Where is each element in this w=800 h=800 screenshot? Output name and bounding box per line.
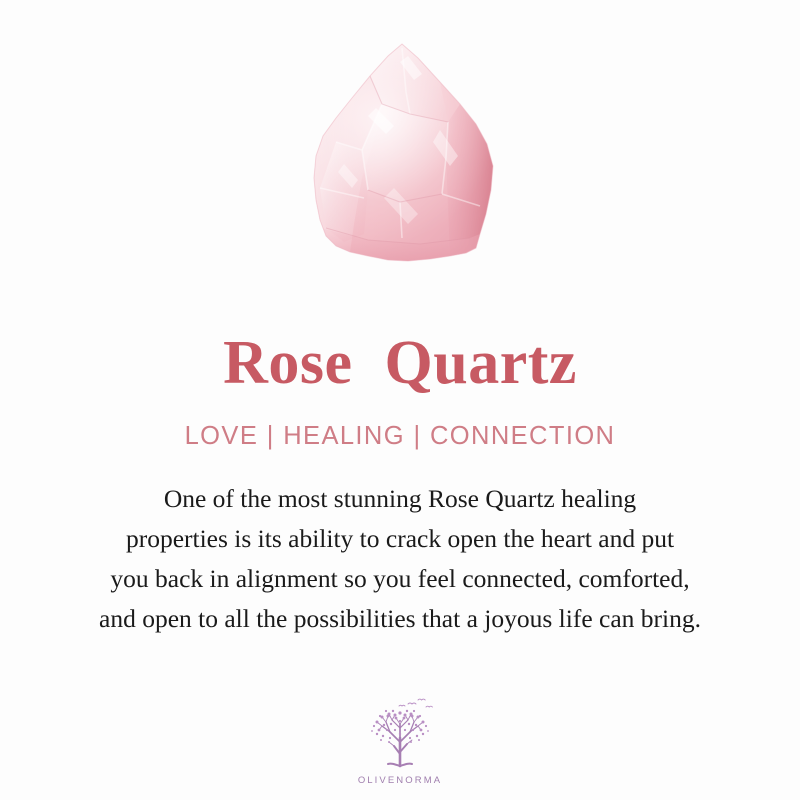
description-line: you back in alignment so you feel connec… bbox=[30, 559, 770, 599]
tree-birds bbox=[399, 699, 432, 707]
brand-name: OLIVENORMA bbox=[358, 775, 442, 786]
product-card: Rose Quartz LOVE | HEALING | CONNECTION … bbox=[0, 0, 800, 800]
crystal-image-container bbox=[0, 0, 800, 320]
product-description: One of the most stunning Rose Quartz hea… bbox=[30, 479, 770, 639]
description-line: and open to all the possibilities that a… bbox=[30, 599, 770, 639]
rose-quartz-crystal-image bbox=[290, 38, 510, 278]
crystal-body bbox=[290, 38, 510, 278]
brand-logo: OLIVENORMA bbox=[0, 694, 800, 786]
tree-of-life-icon bbox=[360, 694, 440, 774]
description-line: properties is its ability to crack open … bbox=[30, 519, 770, 559]
keyword-subtitle: LOVE | HEALING | CONNECTION bbox=[185, 422, 616, 451]
page-title: Rose Quartz bbox=[223, 332, 577, 394]
description-line: One of the most stunning Rose Quartz hea… bbox=[30, 479, 770, 519]
